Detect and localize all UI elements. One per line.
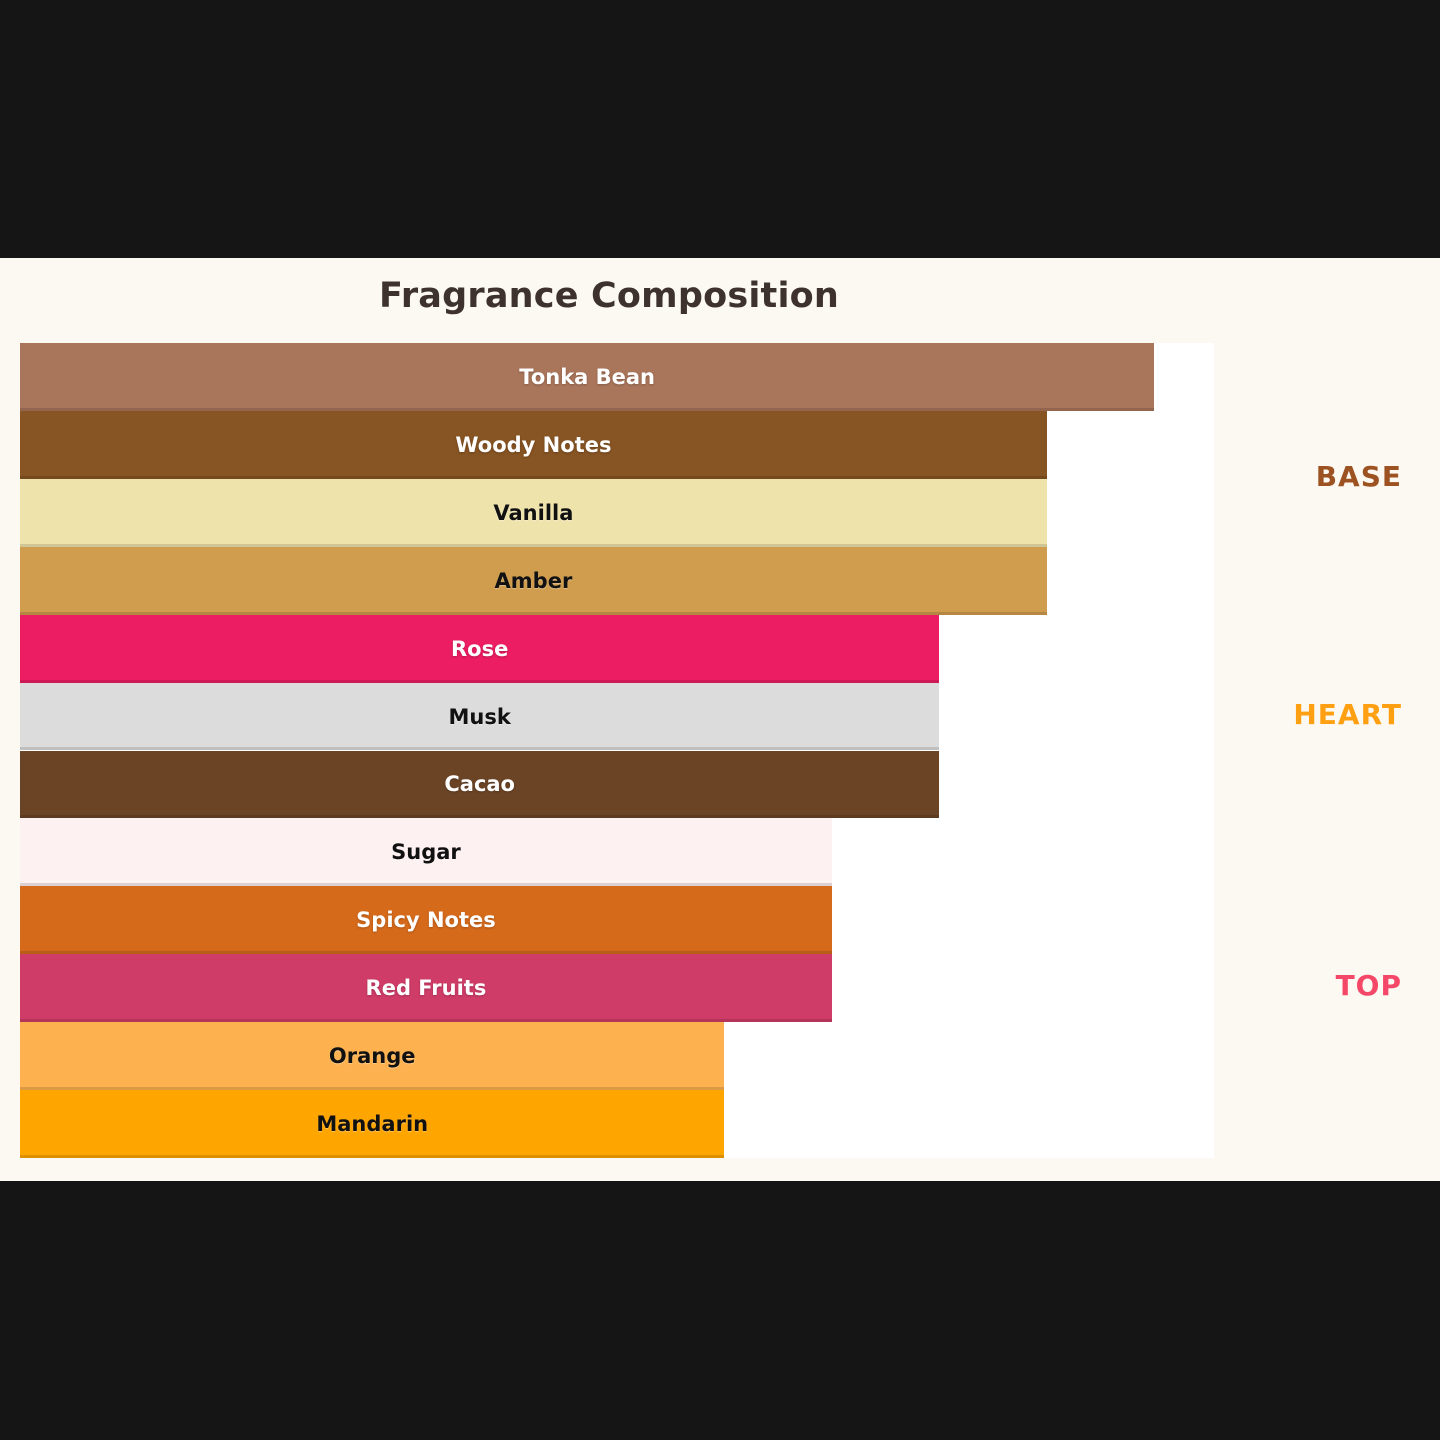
bar-orange[interactable]: Orange [20, 1022, 724, 1090]
page-title: Fragrance Composition [0, 276, 1218, 316]
bar-sugar[interactable]: Sugar [20, 818, 832, 886]
bar-label: Spicy Notes [356, 908, 496, 932]
letterbox-band-bottom [0, 1181, 1440, 1440]
bar-label: Rose [451, 637, 508, 661]
bar-label: Sugar [391, 840, 461, 864]
group-label-base: BASE [1316, 460, 1402, 493]
bar-label: Red Fruits [366, 976, 487, 1000]
bar-label: Tonka Bean [519, 365, 655, 389]
bar-musk[interactable]: Musk [20, 683, 939, 751]
chart-figure: Fragrance Composition Tonka BeanWoody No… [0, 258, 1440, 1181]
bar-label: Cacao [444, 772, 515, 796]
bar-label: Orange [329, 1044, 416, 1068]
bar-rose[interactable]: Rose [20, 615, 939, 683]
bar-label: Mandarin [316, 1112, 428, 1136]
bar-label: Musk [449, 705, 511, 729]
bar-tonka-bean[interactable]: Tonka Bean [20, 343, 1154, 411]
bar-label: Woody Notes [455, 433, 611, 457]
bar-cacao[interactable]: Cacao [20, 751, 939, 819]
bar-red-fruits[interactable]: Red Fruits [20, 954, 832, 1022]
bar-vanilla[interactable]: Vanilla [20, 479, 1047, 547]
bar-label: Vanilla [493, 501, 573, 525]
group-label-top: TOP [1336, 969, 1402, 1002]
plot-area: Tonka BeanWoody NotesVanillaAmberRoseMus… [20, 343, 1214, 1158]
group-label-heart: HEART [1293, 698, 1402, 731]
bar-woody-notes[interactable]: Woody Notes [20, 411, 1047, 479]
bar-spicy-notes[interactable]: Spicy Notes [20, 886, 832, 954]
screenshot-stage: Fragrance Composition Tonka BeanWoody No… [0, 0, 1440, 1440]
bar-amber[interactable]: Amber [20, 547, 1047, 615]
letterbox-band-top [0, 0, 1440, 258]
bar-mandarin[interactable]: Mandarin [20, 1090, 724, 1158]
bar-label: Amber [495, 569, 573, 593]
